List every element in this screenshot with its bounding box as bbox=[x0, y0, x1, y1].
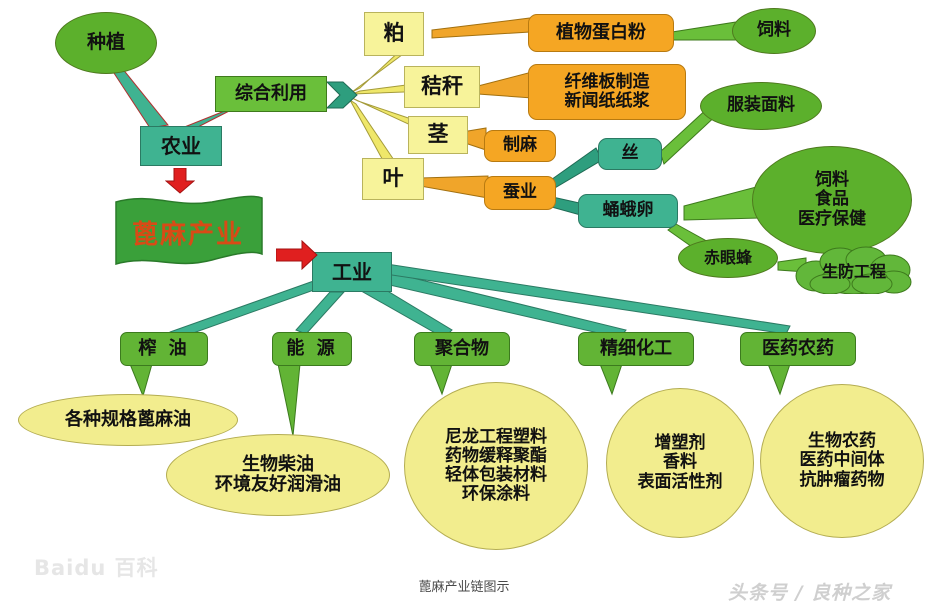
node-output-garment-fabric[interactable]: 服装面料 bbox=[700, 82, 822, 130]
node-output-biocontrol-engineering[interactable]: 生防工程 bbox=[794, 246, 914, 294]
node-products-castor-oil-grades[interactable]: 各种规格蓖麻油 bbox=[18, 394, 238, 446]
node-process-plant-protein-powder[interactable]: 植物蛋白粉 bbox=[528, 14, 674, 52]
node-process-sericulture[interactable]: 蚕业 bbox=[484, 176, 556, 210]
node-sector-oil-pressing[interactable]: 榨 油 bbox=[120, 332, 208, 366]
node-products-polymer-list[interactable]: 尼龙工程塑料 药物缓释聚酯 轻体包装材料 环保涂料 bbox=[404, 382, 588, 550]
node-industry[interactable]: 工业 bbox=[312, 252, 392, 292]
toutiao-watermark: 头条号 / 良种之家 bbox=[728, 578, 891, 605]
edge-protein-to-feed bbox=[672, 22, 736, 40]
biocontrol-label: 生防工程 bbox=[794, 246, 914, 294]
node-material-straw[interactable]: 秸秆 bbox=[404, 66, 480, 108]
node-output-feed[interactable]: 饲料 bbox=[732, 8, 816, 54]
node-output-silk[interactable]: 丝 bbox=[598, 138, 662, 170]
node-output-trichogramma[interactable]: 赤眼蜂 bbox=[678, 238, 778, 278]
node-sector-polymer[interactable]: 聚合物 bbox=[414, 332, 510, 366]
node-process-fiberboard-newsprint[interactable]: 纤维板制造 新闻纸纸浆 bbox=[528, 64, 686, 120]
node-agriculture[interactable]: 农业 bbox=[140, 126, 222, 166]
node-sector-fine-chemicals[interactable]: 精细化工 bbox=[578, 332, 694, 366]
node-process-hemp-making[interactable]: 制麻 bbox=[484, 130, 556, 162]
edge-meal-to-protein bbox=[432, 18, 530, 38]
node-material-meal[interactable]: 粕 bbox=[364, 12, 424, 56]
node-comprehensive-use[interactable]: 综合利用 bbox=[215, 76, 327, 112]
castor-industry-banner: 蓖麻产业 bbox=[112, 192, 264, 272]
sector-tail-oil-pressing bbox=[130, 364, 160, 398]
node-material-leaf[interactable]: 叶 bbox=[362, 158, 424, 200]
edge-straw-to-fiberboard bbox=[478, 72, 532, 98]
edge-pupa-to-feedfood bbox=[684, 186, 760, 220]
edge-industry-to-energy bbox=[296, 292, 344, 334]
node-sector-pharma-pesticide[interactable]: 医药农药 bbox=[740, 332, 856, 366]
node-products-biodiesel-lubricant[interactable]: 生物柴油 环境友好润滑油 bbox=[166, 434, 390, 516]
node-planting[interactable]: 种植 bbox=[55, 12, 157, 74]
red-down-arrow-icon bbox=[165, 168, 195, 194]
edge-planting-to-agriculture bbox=[108, 64, 168, 128]
node-output-pupa-moth-egg[interactable]: 蛹蛾卵 bbox=[578, 194, 678, 228]
node-output-feed-food-healthcare[interactable]: 饲料 食品 医疗保健 bbox=[752, 146, 912, 254]
node-sector-energy[interactable]: 能 源 bbox=[272, 332, 352, 366]
node-products-pharma-list[interactable]: 生物农药 医药中间体 抗肿瘤药物 bbox=[760, 384, 924, 538]
edge-leaf-to-sericulture bbox=[420, 176, 488, 198]
red-right-arrow-icon bbox=[276, 240, 318, 270]
sector-tail-fine-chemicals bbox=[600, 364, 630, 396]
edge-sericulture-to-silk bbox=[548, 148, 602, 192]
node-products-fine-chemicals-list[interactable]: 增塑剂 香料 表面活性剂 bbox=[606, 388, 754, 538]
sector-tail-energy bbox=[278, 364, 308, 438]
baidu-baike-watermark: Baidu 百科 bbox=[34, 552, 159, 582]
node-material-stem[interactable]: 茎 bbox=[408, 116, 468, 154]
hub-arrow-icon bbox=[327, 80, 361, 110]
sector-tail-pharma-pesticide bbox=[768, 364, 798, 396]
banner-label: 蓖麻产业 bbox=[112, 192, 264, 272]
castor-industry-chain-diagram: 种植 农业 综合利用 粕 秸秆 茎 叶 植物蛋白粉 纤维板制造 新闻纸纸浆 制麻… bbox=[0, 0, 928, 614]
